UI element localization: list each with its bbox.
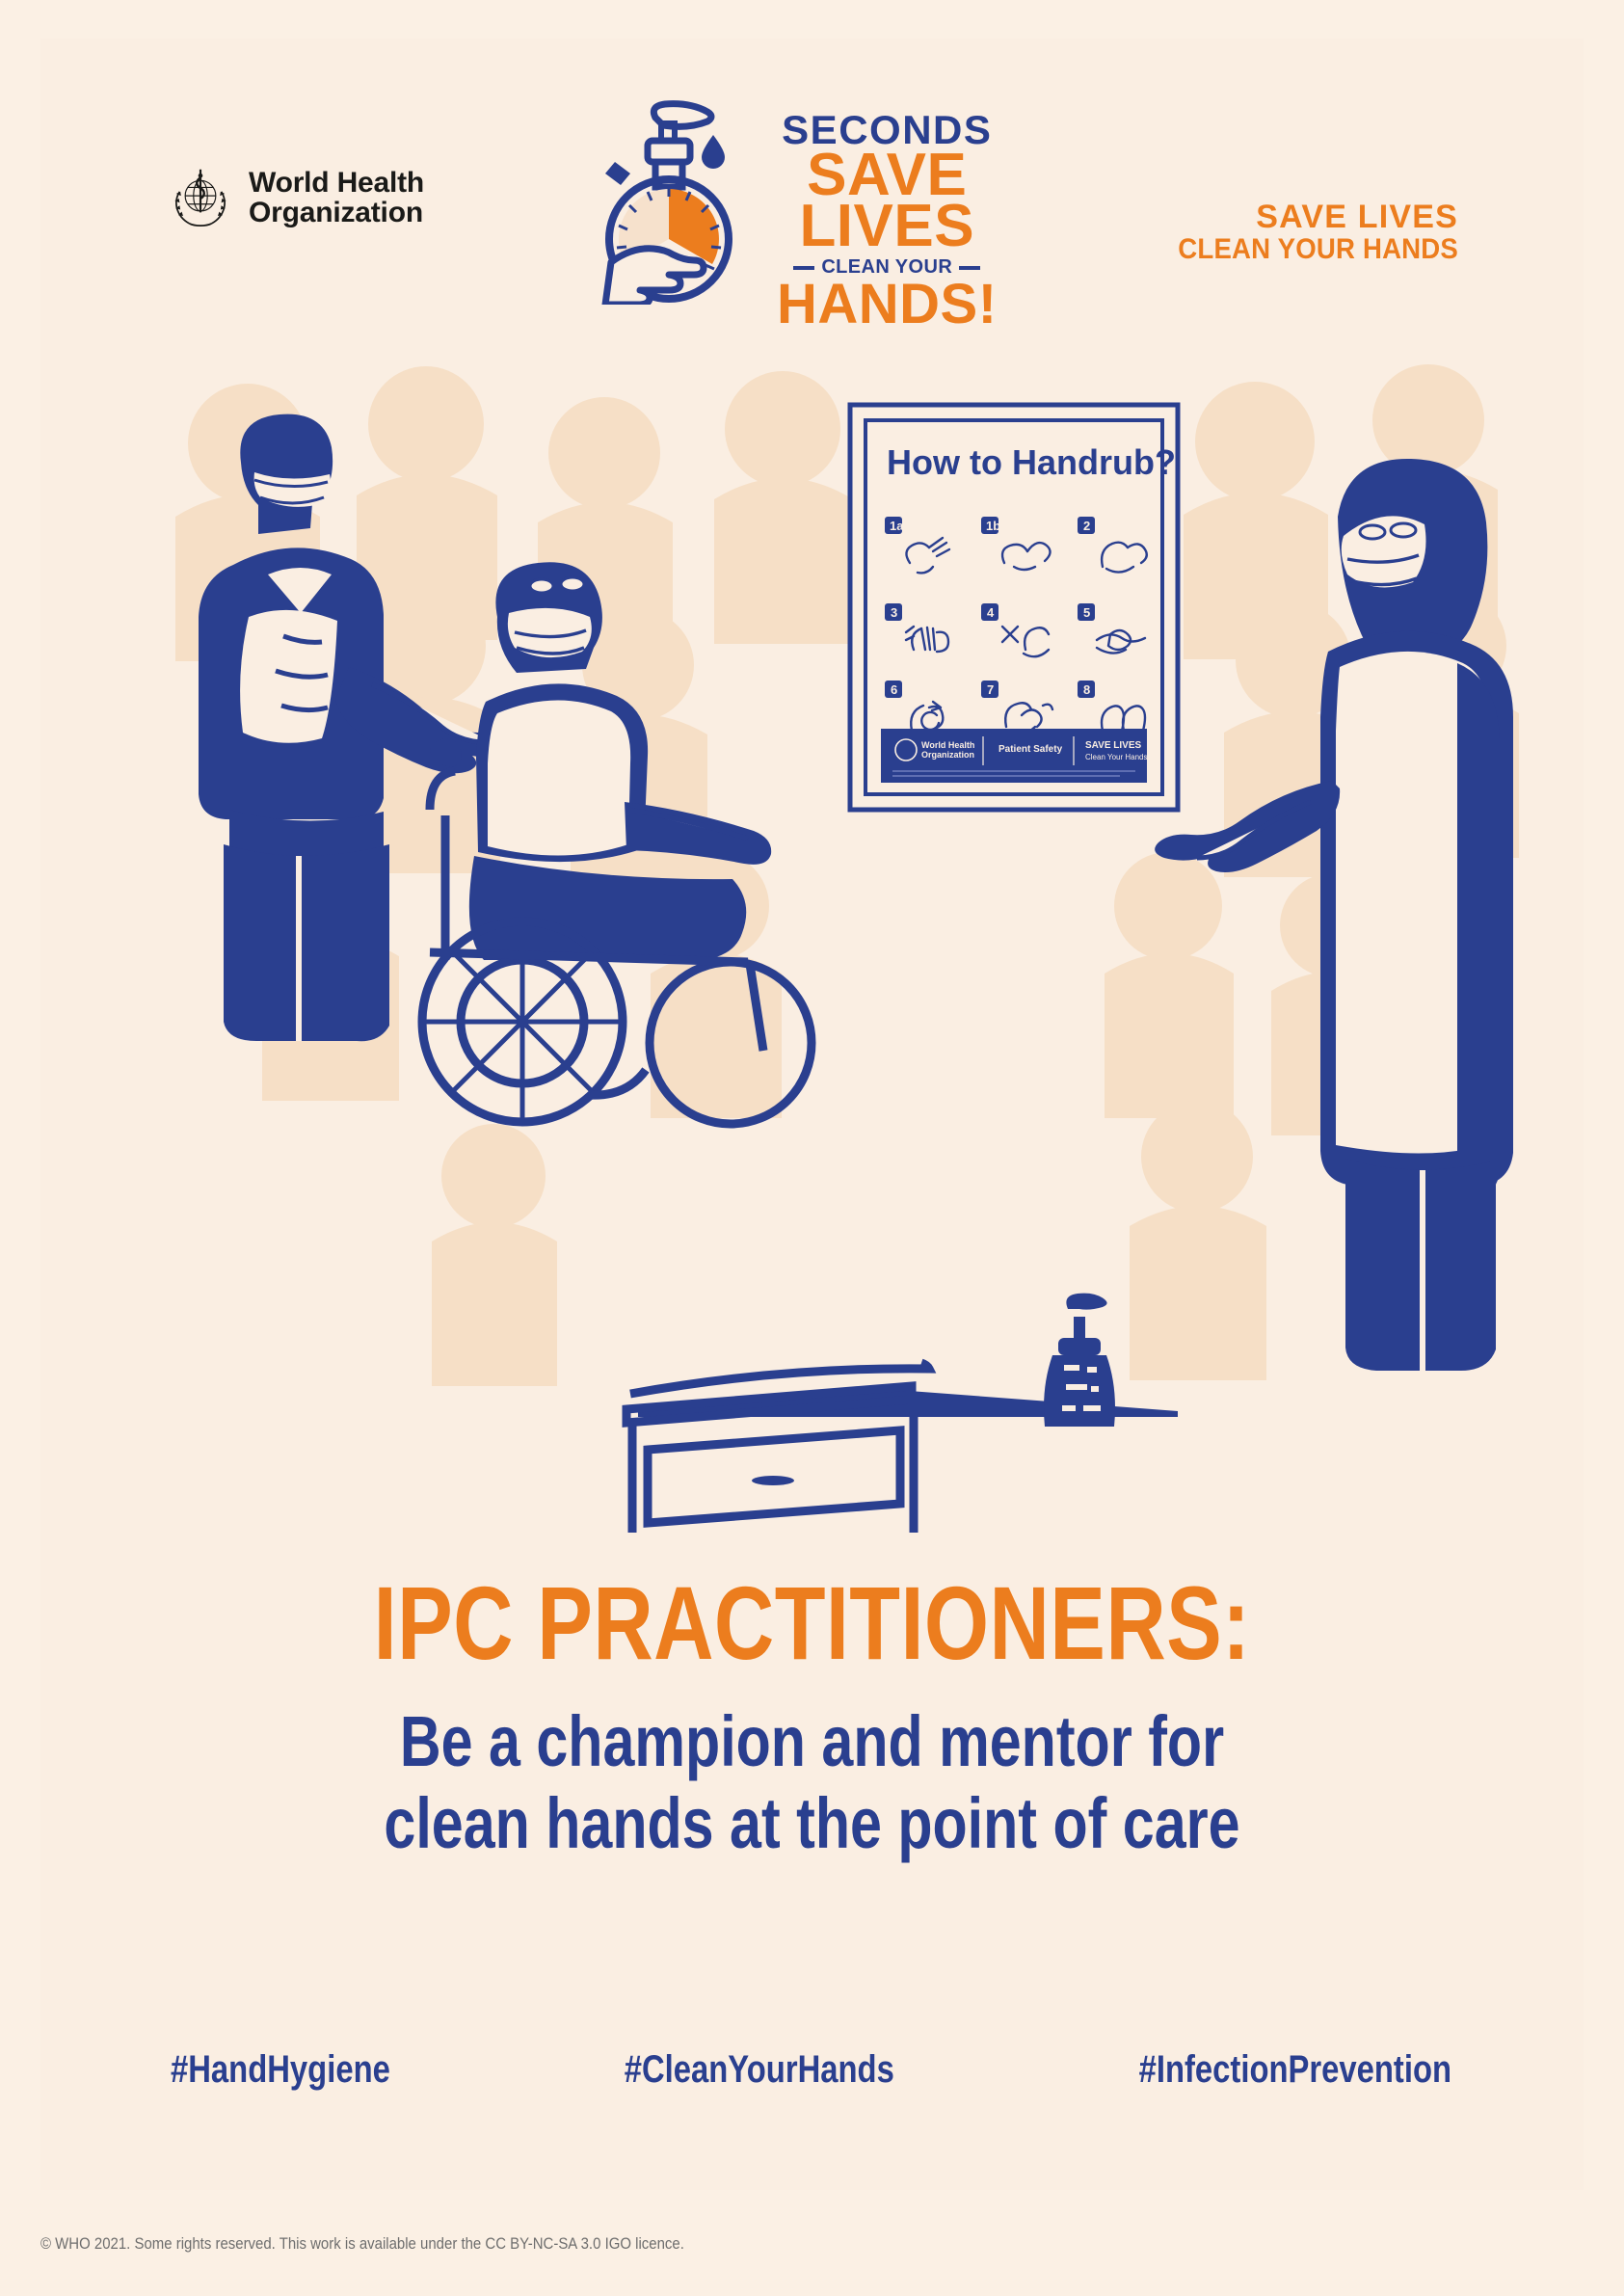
poster-sheet: World Health Organization	[40, 39, 1584, 2190]
headline-block: IPC PRACTITIONERS: Be a champion and men…	[40, 1571, 1584, 1864]
svg-text:1a: 1a	[890, 519, 904, 533]
lockup-lives: LIVES	[777, 200, 998, 252]
svg-text:7: 7	[987, 682, 994, 697]
wall-poster-footer: World Health Organization Patient Safety…	[881, 729, 1148, 783]
headline-subline-2: clean hands at the point of care	[195, 1782, 1429, 1864]
wall-poster-how-to-handrub: How to Handrub? 1a 1b 2 3 4 5 6 7 8	[850, 405, 1178, 810]
copyright-notice: © WHO 2021. Some rights reserved. This w…	[40, 2234, 684, 2254]
hashtag-infection-prevention[interactable]: #InfectionPrevention	[1139, 2048, 1451, 2092]
svg-text:3: 3	[891, 605, 897, 620]
svg-text:Patient Safety: Patient Safety	[998, 744, 1063, 755]
stopwatch-soap-dispenser-hand-icon	[586, 93, 769, 305]
who-logo-text: World Health Organization	[249, 169, 424, 228]
lockup-hands: HANDS!	[777, 280, 998, 329]
svg-text:1b: 1b	[986, 519, 1000, 533]
wall-poster-title: How to Handrub?	[887, 442, 1176, 482]
svg-text:5: 5	[1083, 605, 1090, 620]
svg-text:4: 4	[987, 605, 995, 620]
campaign-lockup: SECONDS SAVE LIVES CLEAN YOUR HANDS!	[586, 93, 1010, 314]
who-logo-line1: World Health	[249, 169, 424, 199]
headline-subline: Be a champion and mentor for clean hands…	[195, 1700, 1429, 1864]
hashtag-hand-hygiene[interactable]: #HandHygiene	[171, 2048, 390, 2092]
headline-eyebrow: IPC PRACTITIONERS:	[195, 1571, 1429, 1675]
campaign-tagline: SAVE LIVES CLEAN YOUR HANDS	[1154, 200, 1458, 264]
headline-subline-1: Be a champion and mentor for	[195, 1700, 1429, 1782]
svg-text:SAVE LIVES: SAVE LIVES	[1085, 740, 1141, 751]
svg-text:6: 6	[891, 682, 897, 697]
hand-sanitizer-dispenser	[1044, 1294, 1115, 1427]
tagline-line1: SAVE LIVES	[1154, 200, 1458, 234]
scene-illustration: How to Handrub? 1a 1b 2 3 4 5 6 7 8	[40, 328, 1584, 1533]
who-logo: World Health Organization	[166, 164, 424, 233]
hashtag-clean-your-hands[interactable]: #CleanYourHands	[625, 2048, 894, 2092]
tagline-line2: CLEAN YOUR HANDS	[1178, 234, 1458, 265]
who-logo-line2: Organization	[249, 199, 424, 228]
svg-text:8: 8	[1083, 682, 1090, 697]
svg-text:World Health: World Health	[921, 740, 974, 750]
who-emblem-icon	[166, 164, 235, 233]
svg-text:Organization: Organization	[921, 750, 974, 760]
svg-text:2: 2	[1083, 519, 1090, 533]
hashtag-row: #HandHygiene #CleanYourHands #InfectionP…	[146, 2048, 1486, 2092]
cabinet-drawer-handle	[752, 1476, 794, 1485]
campaign-lockup-type: SECONDS SAVE LIVES CLEAN YOUR HANDS!	[777, 93, 998, 329]
scene-artwork: How to Handrub? 1a 1b 2 3 4 5 6 7 8	[40, 328, 1584, 1533]
svg-text:Clean Your Hands: Clean Your Hands	[1085, 753, 1148, 761]
lockup-rule-left	[793, 266, 814, 270]
lockup-rule-right	[959, 266, 980, 270]
poster-root: World Health Organization	[0, 0, 1624, 2296]
poster-header: World Health Organization	[40, 39, 1584, 337]
